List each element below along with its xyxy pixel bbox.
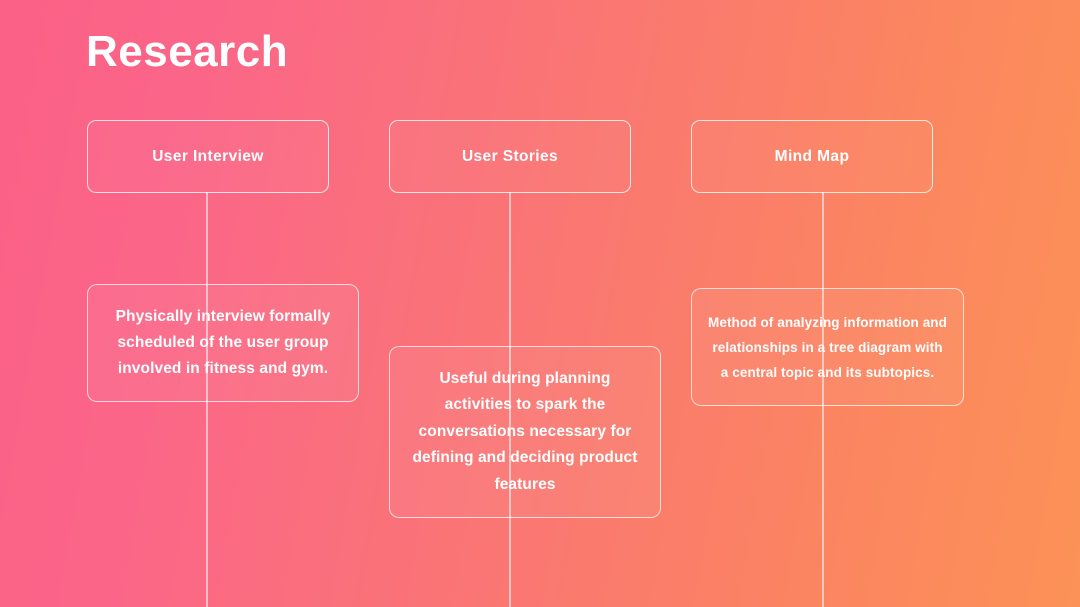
description-card-user-stories[interactable]: Useful during planning activities to spa…: [389, 346, 661, 518]
description-text: Useful during planning activities to spa…: [406, 366, 644, 499]
description-card-user-interview[interactable]: Physically interview formally scheduled …: [87, 284, 359, 402]
heading-label: User Stories: [462, 148, 558, 166]
heading-card-user-stories[interactable]: User Stories: [389, 120, 631, 193]
heading-card-mind-map[interactable]: Mind Map: [691, 120, 933, 193]
description-text: Method of analyzing information and rela…: [708, 310, 947, 385]
page-title: Research: [86, 24, 288, 80]
slide-canvas: Research User Interview User Stories Min…: [0, 0, 1080, 607]
description-card-mind-map[interactable]: Method of analyzing information and rela…: [691, 288, 964, 406]
heading-card-user-interview[interactable]: User Interview: [87, 120, 329, 193]
description-text: Physically interview formally scheduled …: [104, 304, 342, 382]
heading-label: User Interview: [152, 148, 264, 166]
heading-label: Mind Map: [775, 148, 850, 166]
